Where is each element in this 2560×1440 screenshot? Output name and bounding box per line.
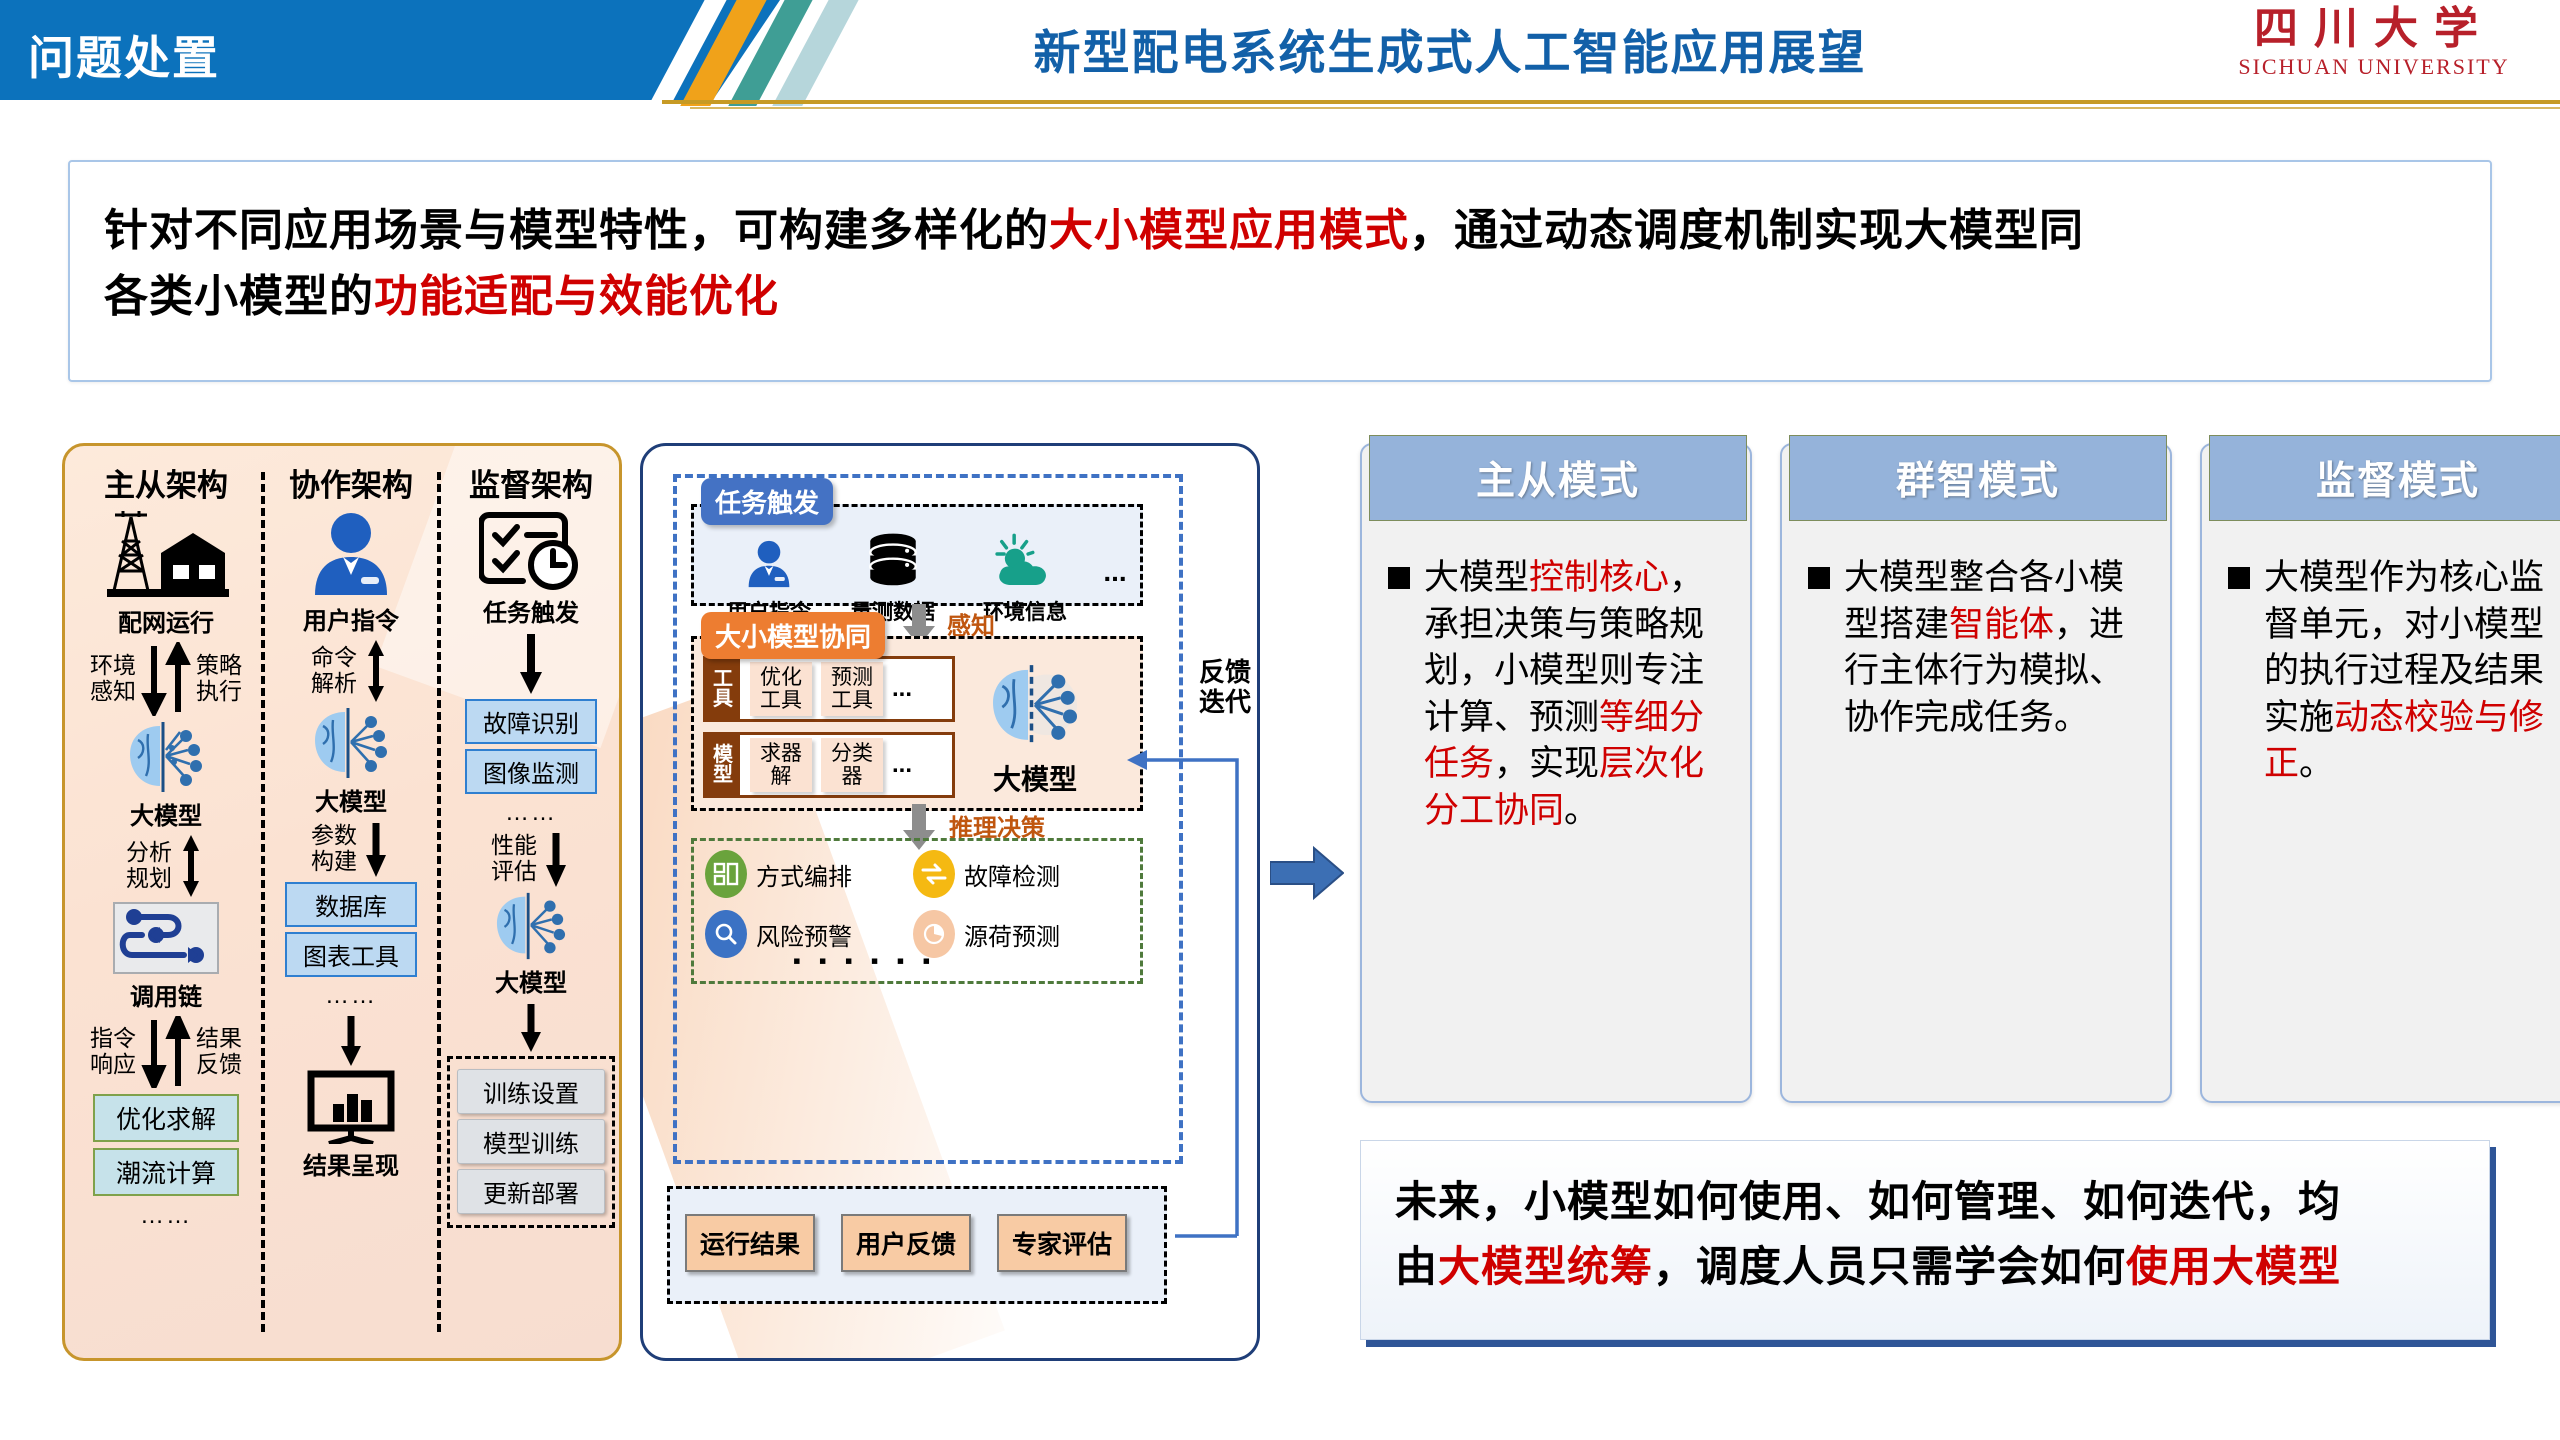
arch-col3-graybox-2[interactable]: 更新部署 [457,1169,605,1214]
capability-ellipsis: ▪ ▪ ▪ ▪ ▪ ▪ [793,948,936,974]
model-chip-0[interactable]: 求器解 [750,738,812,792]
capability-label-2: 风险预警 [756,917,852,952]
checklist-clock-icon [479,509,583,591]
arch-col2-flow-2: 参数构建 [265,821,437,877]
weather-sun-cloud-icon [994,532,1056,590]
down-arrow-icon [516,1002,546,1052]
model-row-more: ... [892,751,912,779]
user-suit-icon [305,509,397,599]
double-arrow-icon [140,642,192,716]
brain-chip-icon [979,658,1091,754]
arch-col3-flow: 性能评估 [443,831,619,887]
call-chain-icon [112,901,220,975]
arch-col1-flow2-left: 分析规划 [126,840,172,892]
flow-arrow-icon [1270,845,1344,901]
mode-card-supervisory: 监督模式 大模型作为核心监督单元，对小模型的执行过程及结果实施动态校验与修正。 [2200,443,2560,1103]
logo-english-name: SICHUAN UNIVERSITY [2204,54,2544,80]
mode-card-text-0: 大模型控制核心，承担决策与策略规划，小模型则专注计算、预测等细分任务，实现层次化… [1424,555,1732,834]
model-row: 模型 求器解 分类器 ... [703,732,955,798]
diagram-brain-label: 大模型 [977,758,1093,798]
arch-col2-flow1-left: 命令解析 [311,645,357,697]
power-tower-house-icon [101,509,231,601]
mode-card-swarm: 群智模式 大模型整合各小模型搭建智能体，进行主体行为模拟、协作完成任务。 [1780,443,2172,1103]
arch-column-master-slave: 主从架构 配网运行 环境感知 策略执行 [73,456,259,1356]
arch-col3-box-1[interactable]: 图像监测 [465,749,597,794]
seg-4: ，实现 [1494,744,1599,783]
presentation-chart-icon [303,1070,399,1144]
arch-col3-flow-left: 性能评估 [491,833,537,885]
mode-card-title-1: 群智模式 [1789,435,2167,521]
page-header: 问题处置 新型配电系统生成式人工智能应用展望 四川大学 SICHUAN UNIV… [0,0,2560,120]
database-icon [865,532,921,590]
mode-card-body-2: 大模型作为核心监督单元，对小模型的执行过程及结果实施动态校验与修正。 [2228,555,2560,788]
statement-text: 针对不同应用场景与模型特性，可构建多样化的大小模型应用模式，通过动态调度机制实现… [70,162,2490,330]
mode-card-body-1: 大模型整合各小模型搭建智能体，进行主体行为模拟、协作完成任务。 [1808,555,2152,741]
double-arrow-icon [140,1016,192,1088]
arch-col2-box-1[interactable]: 图表工具 [285,932,417,977]
arch-col1-box-0[interactable]: 优化求解 [93,1094,239,1142]
arch-col2-node1-label: 大模型 [265,782,437,817]
conclusion-line2-a: 由 [1395,1243,1438,1290]
arch-col3-graybox-1[interactable]: 模型训练 [457,1119,605,1164]
header-rule-thin [690,107,2560,109]
down-arrow-icon [516,632,546,694]
bidirectional-arrow-icon [361,640,391,702]
brain-chip-icon [483,891,579,961]
seg-1: 智能体 [1949,605,2054,644]
feedback-box-1[interactable]: 用户反馈 [841,1214,971,1272]
mode-card-title-2: 监督模式 [2209,435,2560,521]
arch-col3-icon-label: 任务触发 [443,593,619,628]
mode-card-master-slave: 主从模式 大模型控制核心，承担决策与策略规划，小模型则专注计算、预测等细分任务，… [1360,443,1752,1103]
brain-chip-icon [303,706,399,780]
arch-col2-ellipsis: …… [265,982,437,1010]
arch-col3-box-0[interactable]: 故障识别 [465,699,597,744]
statement-line1-a: 针对不同应用场景与模型特性，可构建多样化的 [104,206,1049,255]
arch-col1-flow-3: 指令响应 结果反馈 [73,1016,259,1088]
mode-card-text-1: 大模型整合各小模型搭建智能体，进行主体行为模拟、协作完成任务。 [1844,555,2152,741]
capability-1[interactable]: 故障检测 [913,850,1060,898]
conclusion-highlight-2: 使用大模型 [2126,1243,2341,1290]
arch-col1-flow3-left: 指令响应 [90,1026,136,1078]
bullet-icon [1808,567,1830,589]
capability-label-3: 源荷预测 [964,917,1060,952]
exchange-icon [913,850,955,898]
user-suit-icon [743,538,795,590]
arch-col2-title: 协作架构 [265,460,437,505]
search-icon [705,910,747,958]
arch-col1-flow-1: 环境感知 策略执行 [73,642,259,716]
tool-row: 工具 优化工具 预测工具 ... [703,656,955,722]
arch-col2-icon-label: 用户指令 [265,601,437,636]
seg-2: 。 [2299,744,2334,783]
arch-col1-node1-label: 大模型 [73,796,259,831]
arch-col2-icon2-label: 结果呈现 [265,1146,437,1181]
header-stripes-decor [672,0,872,100]
arch-col3-ellipsis: …… [443,799,619,827]
arch-col1-flow-2: 分析规划 [73,835,259,897]
arch-col3-title: 监督架构 [443,460,619,505]
arch-column-cooperative: 协作架构 用户指令 命令解析 [265,456,437,1356]
arch-column-supervisory: 监督架构 任务触发 故障识别 图像监测 …… 性能评估 [443,456,619,1356]
bullet-icon [1388,567,1410,589]
arch-col1-flow1-left: 环境感知 [90,653,136,705]
conclusion-line1: 未来，小模型如何使用、如何管理、如何迭代，均 [1395,1178,2341,1225]
logo-chinese-name: 四川大学 [2204,6,2544,52]
arch-col1-flow3-right: 结果反馈 [196,1026,242,1078]
conclusion-highlight-1: 大模型统筹 [1438,1243,1653,1290]
arch-col1-title: 主从架构 [73,460,259,505]
down-arrow-icon [361,821,391,877]
arch-col1-ellipsis: …… [73,1202,259,1230]
statement-line1-highlight: 大小模型应用模式 [1049,206,1409,255]
arch-col3-graybox-0[interactable]: 训练设置 [457,1069,605,1114]
arch-col3-node-label: 大模型 [443,963,619,998]
trigger-tag: 任务触发 [701,478,833,525]
capability-label-1: 故障检测 [964,857,1060,892]
down-arrow-icon [541,831,571,887]
conclusion-text: 未来，小模型如何使用、如何管理、如何迭代，均 由大模型统筹，调度人员只需学会如何… [1361,1141,2489,1299]
blocks-icon [705,850,747,898]
seg-0: 大模型 [1424,558,1529,597]
capability-0[interactable]: 方式编排 [705,850,852,898]
bullet-icon [2228,567,2250,589]
arch-col1-box-1[interactable]: 潮流计算 [93,1148,239,1196]
column-divider-2 [437,472,441,1332]
bidirectional-arrow-icon [176,835,206,897]
statement-box: 针对不同应用场景与模型特性，可构建多样化的大小模型应用模式，通过动态调度机制实现… [68,160,2492,382]
arch-col1-icon-label: 配网运行 [73,603,259,638]
conclusion-line2-b: ，调度人员只需学会如何 [1653,1243,2126,1290]
mode-card-title-0: 主从模式 [1369,435,1747,521]
tool-row-more: ... [892,675,912,703]
model-chip-1[interactable]: 分类器 [821,738,883,792]
arch-col2-flow-1: 命令解析 [265,640,437,702]
feedback-box-2[interactable]: 专家评估 [997,1214,1127,1272]
seg-6: 。 [1564,791,1599,830]
tool-chip-0[interactable]: 优化工具 [750,662,812,716]
feedback-label: 反馈迭代 [1199,658,1251,718]
tool-row-header: 工具 [706,659,740,719]
tool-chip-1[interactable]: 预测工具 [821,662,883,716]
cooperation-tag: 大小模型协同 [701,612,885,659]
brain-chip-icon [118,720,214,794]
mode-card-text-2: 大模型作为核心监督单元，对小模型的执行过程及结果实施动态校验与修正。 [2264,555,2560,788]
arch-col2-flow2-left: 参数构建 [311,823,357,875]
collaboration-diagram-panel: 任务触发 用户指令 量测数据 [640,443,1260,1361]
capability-label-0: 方式编排 [756,857,852,892]
arch-col2-box-0[interactable]: 数据库 [285,882,417,927]
statement-line2-a: 各类小模型的 [104,272,374,321]
architecture-panel: 主从架构 配网运行 环境感知 策略执行 [62,443,622,1361]
arch-col1-node2-label: 调用链 [73,977,259,1012]
conclusion-box: 未来，小模型如何使用、如何管理、如何迭代，均 由大模型统筹，调度人员只需学会如何… [1360,1140,2490,1340]
page-title: 新型配电系统生成式人工智能应用展望 [880,14,2020,83]
feedback-box-0[interactable]: 运行结果 [685,1214,815,1272]
arch-col1-flow1-right: 策略执行 [196,653,242,705]
statement-line1-b: ，通过动态调度机制实现大模型同 [1409,206,2084,255]
header-section-label: 问题处置 [28,22,220,88]
university-logo: 四川大学 SICHUAN UNIVERSITY [2204,6,2544,80]
source-ellipsis: ... [1095,556,1135,588]
down-arrow-icon [336,1014,366,1066]
arch-col3-gray-group: 训练设置 模型训练 更新部署 [447,1056,615,1228]
statement-line2-highlight: 功能适配与效能优化 [374,272,779,321]
model-row-header: 模型 [706,735,740,795]
seg-1: 控制核心 [1529,558,1669,597]
mode-card-body-0: 大模型控制核心，承担决策与策略规划，小模型则专注计算、预测等细分任务，实现层次化… [1388,555,1732,834]
header-rule [662,100,2560,104]
